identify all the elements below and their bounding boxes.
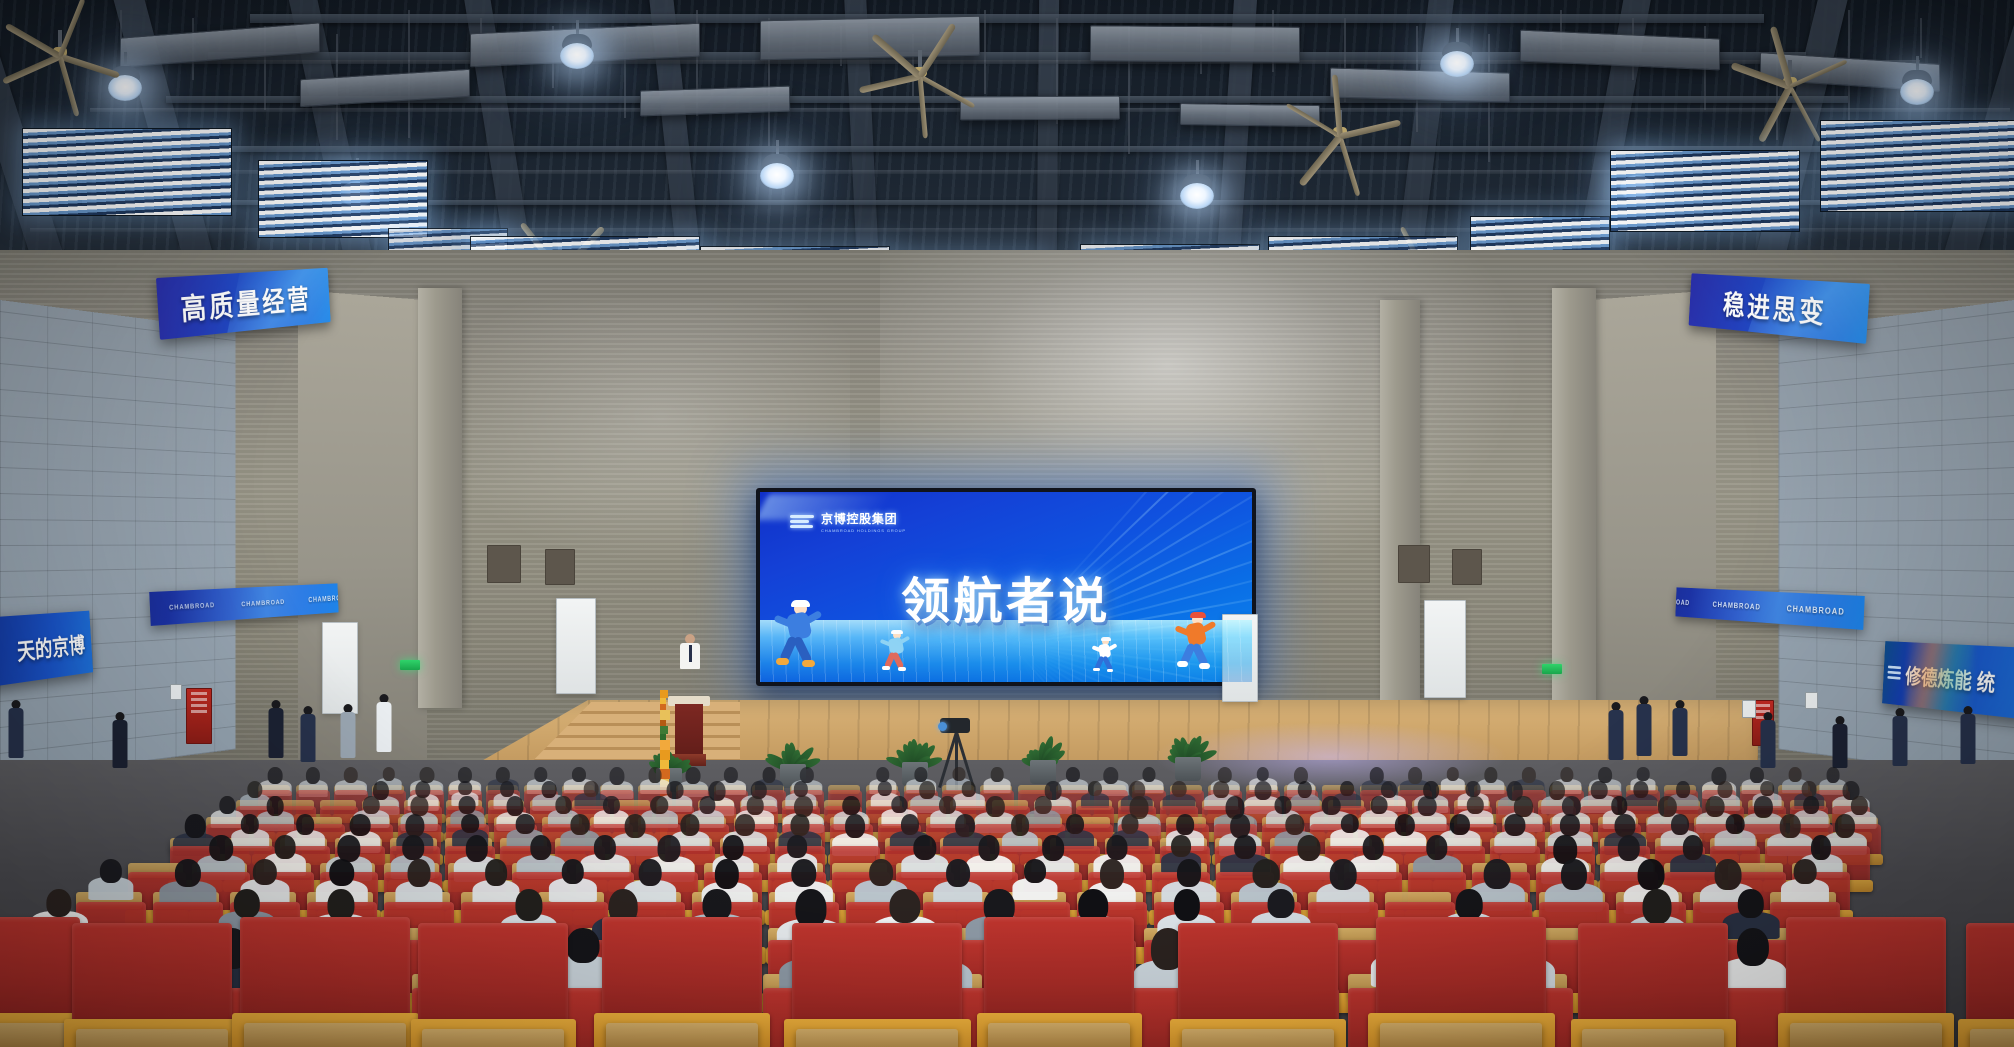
foreground-seat xyxy=(240,917,410,1037)
standing-person xyxy=(112,712,128,768)
standing-person xyxy=(340,704,356,758)
left-corner-wall xyxy=(298,290,427,790)
seat-tablet-arm xyxy=(988,1023,1130,1047)
runner-cap xyxy=(1101,637,1111,641)
foreground-seat xyxy=(984,917,1134,1037)
foreground-seat xyxy=(602,917,762,1037)
hvac-duct xyxy=(1330,67,1510,102)
wall-panel-right-a xyxy=(1398,545,1430,583)
hvac-duct xyxy=(960,96,1120,121)
foreground-seat-row xyxy=(0,905,2014,1047)
person-body xyxy=(1609,710,1624,760)
clerestory-window xyxy=(1610,150,1800,232)
flower-bloom xyxy=(660,726,668,734)
runner-shoe xyxy=(802,660,815,667)
standing-person xyxy=(1760,712,1776,768)
foreground-seat xyxy=(72,923,232,1043)
foreground-seat xyxy=(1178,923,1338,1043)
standing-person xyxy=(1608,702,1624,760)
clerestory-window xyxy=(22,128,232,216)
wall-panel-left-a xyxy=(487,545,521,583)
person-body xyxy=(269,708,284,758)
foreground-seat xyxy=(418,923,568,1043)
person-body xyxy=(301,714,316,762)
camera-lens-icon xyxy=(938,722,947,731)
foreground-seat xyxy=(792,923,962,1043)
flower-bloom xyxy=(660,690,668,698)
exit-sign-left xyxy=(400,660,420,670)
chambroad-logo: 京博控股集团 CHAMBROAD HOLDINGS GROUP xyxy=(790,510,906,533)
runner-figure xyxy=(1090,637,1121,678)
person-body xyxy=(341,712,356,758)
wave-icon xyxy=(1887,664,1901,683)
lamp-bulb-glow xyxy=(1180,183,1214,209)
logo-wordmark: 京博控股集团 CHAMBROAD HOLDINGS GROUP xyxy=(821,510,906,533)
seat-tablet-arm xyxy=(76,1029,228,1047)
foreground-seat xyxy=(1578,923,1728,1043)
runner-shoe xyxy=(776,658,789,665)
seat-tablet-arm xyxy=(422,1029,564,1047)
ceiling-cross-beam xyxy=(250,14,1764,23)
hvac-duct xyxy=(1180,103,1320,127)
seat-tablet-arm xyxy=(1970,1029,2014,1047)
runner-shoe xyxy=(1177,661,1188,667)
standing-person xyxy=(1892,708,1908,766)
ceiling-hanger-rod xyxy=(984,10,986,94)
standing-person xyxy=(1636,696,1652,756)
runner-shoe xyxy=(882,666,890,670)
door-right[interactable] xyxy=(1424,600,1466,698)
flower-bloom xyxy=(660,750,670,760)
hvac-duct xyxy=(640,86,790,117)
brand-strip-label: CHAMBROAD xyxy=(308,593,338,603)
ceiling-hanger-rod xyxy=(1920,18,1922,58)
speaker-person xyxy=(679,634,701,674)
standing-person xyxy=(1672,700,1688,756)
podium-flower-arrangement xyxy=(660,690,720,732)
foreground-seat xyxy=(1376,917,1546,1037)
brand-strip-label: CHAMBROAD xyxy=(241,597,285,608)
brand-strip-label: CHAMBROAD xyxy=(1675,597,1690,607)
pendant-light xyxy=(1900,56,1934,108)
wall-outlet-right[interactable] xyxy=(1805,692,1818,709)
brand-strip-label: CHAMBROAD xyxy=(1712,600,1761,612)
clerestory-window xyxy=(258,160,428,238)
led-display-screen[interactable]: 京博控股集团 CHAMBROAD HOLDINGS GROUP 领航者说 xyxy=(756,488,1256,686)
brand-strip-label: CHAMBROAD xyxy=(1786,604,1845,617)
seat-tablet-arm xyxy=(1182,1029,1334,1047)
person-body xyxy=(9,708,24,758)
right-pilaster xyxy=(1552,288,1596,708)
pendant-light xyxy=(108,52,142,104)
wall-switch-panel-left[interactable] xyxy=(170,684,182,700)
person-body xyxy=(1961,714,1976,764)
standing-person xyxy=(376,694,392,752)
wall-switch-panel-right[interactable] xyxy=(1742,700,1756,718)
person-body xyxy=(377,702,392,752)
banner-lower-left-text: 天的京博 xyxy=(16,627,86,666)
clerestory-window xyxy=(1820,120,2014,212)
lamp-bulb-glow xyxy=(1440,51,1474,77)
banner-left-text: 高质量经营 xyxy=(179,277,312,329)
brand-strip-label: CHAMBROAD xyxy=(169,602,215,611)
seat-tablet-arm xyxy=(1380,1023,1542,1047)
logo-text-en: CHAMBROAD HOLDINGS GROUP xyxy=(821,528,906,533)
foreground-seat xyxy=(1786,917,1946,1037)
wall-panel-right-b xyxy=(1452,549,1482,585)
pendant-light xyxy=(760,140,794,192)
seat-tablet-arm xyxy=(244,1023,406,1047)
foreground-seat xyxy=(1966,923,2014,1043)
standing-person xyxy=(1960,706,1976,764)
person-body xyxy=(1893,716,1908,766)
runner-shoe xyxy=(898,667,906,671)
standing-person xyxy=(268,700,284,758)
led-screen-title: 领航者说 xyxy=(760,562,1252,633)
flower-bloom xyxy=(660,710,670,720)
runner-shoe xyxy=(1199,663,1210,669)
notice-board-left xyxy=(186,688,212,744)
seat-tablet-arm xyxy=(1790,1023,1942,1047)
pendant-light xyxy=(560,20,594,72)
standing-person xyxy=(1832,716,1848,768)
pendant-light xyxy=(1440,28,1474,80)
seat-tablet-arm xyxy=(796,1029,958,1047)
seat-tablet-arm xyxy=(606,1023,758,1047)
standing-person xyxy=(8,700,24,758)
lamp-bulb-glow xyxy=(1900,79,1934,105)
seat-tablet-arm xyxy=(1582,1029,1724,1047)
runner-shoe xyxy=(1107,669,1114,673)
person-body xyxy=(1637,704,1652,756)
runner-arm xyxy=(899,636,911,645)
runner-shoe xyxy=(1093,668,1100,672)
exit-sign-right xyxy=(1542,664,1562,674)
person-body xyxy=(1673,708,1688,756)
logo-mark-icon xyxy=(790,514,814,529)
left-pilaster xyxy=(418,288,462,708)
logo-text-cn: 京博控股集团 xyxy=(821,510,906,527)
lamp-bulb-glow xyxy=(760,163,794,189)
pendant-light xyxy=(1180,160,1214,212)
flower-bloom xyxy=(660,740,670,750)
hvac-duct xyxy=(1090,25,1300,63)
banner-right-text: 稳进思变 xyxy=(1722,282,1828,331)
door-left[interactable] xyxy=(556,598,596,694)
auditorium-scene: 高质量经营 稳进思变 CHAMBROADCHAMBROADCHAMBROADCH… xyxy=(0,0,2014,1047)
speaker-tie xyxy=(689,645,692,662)
lamp-bulb-glow xyxy=(108,75,142,101)
runner-figure xyxy=(878,630,915,678)
center-right-pilaster xyxy=(1380,300,1420,700)
door-left-far[interactable] xyxy=(322,622,358,714)
wall-panel-left-b xyxy=(545,549,575,585)
runner-arm xyxy=(1107,643,1117,651)
lamp-bulb-glow xyxy=(560,43,594,69)
standing-person xyxy=(300,706,316,762)
